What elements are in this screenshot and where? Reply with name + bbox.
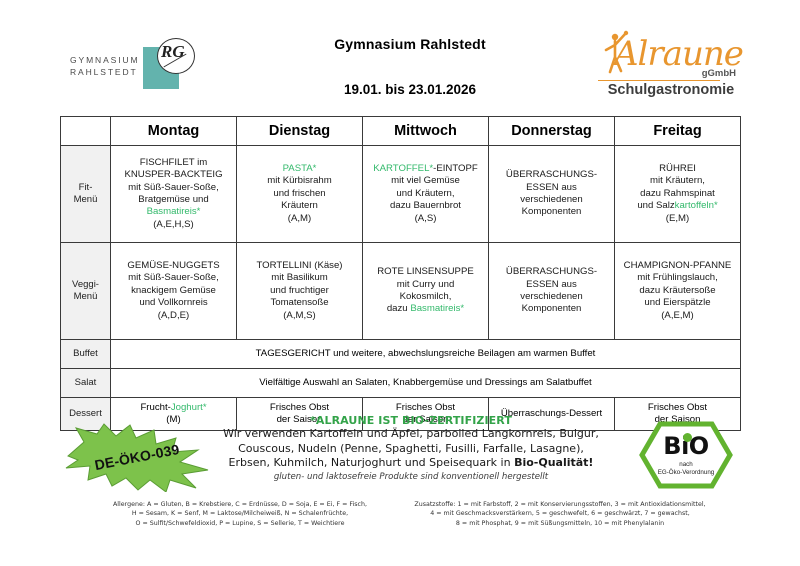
menu-line: Komponenten xyxy=(492,303,611,315)
bio-seal-dot xyxy=(683,433,692,442)
menu-line: ESSEN aus xyxy=(492,279,611,291)
bio-line-2: Couscous, Nudeln (Penne, Spaghetti, Fusi… xyxy=(205,442,617,457)
school-logo-wordmark: GYMNASIUM RAHLSTEDT xyxy=(70,54,140,78)
menu-line: (A,M,S) xyxy=(240,310,359,322)
menu-item-text: und frischen xyxy=(273,188,325,199)
caterer-logo: Alraune gGmbH Schulgastronomie xyxy=(596,28,746,104)
menu-line: mit viel Gemüse xyxy=(366,175,485,187)
menu-item-text: Komponenten xyxy=(522,303,582,314)
menu-line: (A,E,M) xyxy=(618,310,737,322)
table-row-buffet: Buffet TAGESGERICHT und weitere, abwechs… xyxy=(61,340,741,369)
menu-item-text: dazu Rahmspinat xyxy=(640,188,715,199)
menu-line: PASTA* xyxy=(240,163,359,175)
meal-fit-donnerstag: ÜBERRASCHUNGS-ESSEN ausverschiedenenKomp… xyxy=(489,146,615,243)
bio-item-text: Basmatireis* xyxy=(147,206,201,217)
bio-item-text: KARTOFFEL* xyxy=(373,163,433,174)
row-label-veggi-menue: Veggi- Menü xyxy=(61,243,111,340)
menu-item-text: dazu Bauernbrot xyxy=(390,200,461,211)
additives-legend: Zusatzstoffe: 1 = mit Farbstoff, 2 = mit… xyxy=(400,500,720,528)
de-oeko-badge: DE-ÖKO-039 xyxy=(62,422,212,492)
menu-line: mit Curry und xyxy=(366,279,485,291)
menu-line: Kräutern xyxy=(240,200,359,212)
menu-line: ESSEN aus xyxy=(492,182,611,194)
menu-line: mit Kürbisrahm xyxy=(240,175,359,187)
menu-line: (A,E,H,S) xyxy=(114,219,233,231)
menu-line: KNUSPER-BACKTEIG xyxy=(114,169,233,181)
menu-line: (A,D,E) xyxy=(114,310,233,322)
menu-line: knackigem Gemüse xyxy=(114,285,233,297)
meal-veggi-freitag: CHAMPIGNON-PFANNEmit Frühlingslauch,dazu… xyxy=(615,243,741,340)
menu-item-text: Tomatensoße xyxy=(270,297,328,308)
menu-item-text: Kräutern xyxy=(281,200,318,211)
menu-item-text: ROTE LINSENSUPPE xyxy=(377,266,474,277)
menu-item-text: (E,M) xyxy=(666,213,689,224)
additives-line-2: 4 = mit Geschmacksverstärkern, 5 = gesch… xyxy=(400,509,720,518)
menu-line: und Vollkornreis xyxy=(114,297,233,309)
menu-line: Bratgemüse und xyxy=(114,194,233,206)
menu-line: dazu Bauernbrot xyxy=(366,200,485,212)
menu-item-text: und Kräutern, xyxy=(396,188,454,199)
day-header-mittwoch: Mittwoch xyxy=(363,117,489,146)
date-range: 19.01. bis 23.01.2026 xyxy=(300,82,520,97)
menu-line: mit Süß-Sauer-Soße, xyxy=(114,182,233,194)
allergen-legend: Allergene: A = Gluten, B = Krebstiere, C… xyxy=(80,500,400,528)
page-title: Gymnasium Rahlstedt xyxy=(300,36,520,52)
menu-line: und Kräutern, xyxy=(366,188,485,200)
menu-item-text: mit Frühlingslauch, xyxy=(637,272,718,283)
day-header-dienstag: Dienstag xyxy=(237,117,363,146)
menu-item-text: ESSEN aus xyxy=(526,182,577,193)
menu-item-text: mit Süß-Sauer-Soße, xyxy=(128,182,219,193)
meal-fit-freitag: RÜHREImit Kräutern,dazu Rahmspinatund Sa… xyxy=(615,146,741,243)
menu-item-text: Komponenten xyxy=(522,206,582,217)
menu-line: TORTELLINI (Käse) xyxy=(240,260,359,272)
menu-line: dazu Basmatireis* xyxy=(366,303,485,315)
menu-line: RÜHREI xyxy=(618,163,737,175)
caterer-tagline: Schulgastronomie xyxy=(596,82,746,98)
meal-fit-mittwoch: KARTOFFEL*-EINTOPFmit viel Gemüseund Krä… xyxy=(363,146,489,243)
bio-note: gluten- und laktosefreie Produkte sind k… xyxy=(205,472,617,482)
page-footer: Allergene: A = Gluten, B = Krebstiere, C… xyxy=(0,500,800,566)
buffet-text: TAGESGERICHT und weitere, abwechslungsre… xyxy=(111,340,741,369)
bio-line-3: Erbsen, Kuhmilch, Naturjoghurt und Speis… xyxy=(205,456,617,471)
bio-line-3-bold: Bio-Qualität! xyxy=(514,456,593,469)
menu-line: (E,M) xyxy=(618,213,737,225)
menu-item-text: RÜHREI xyxy=(659,163,696,174)
menu-item-text: mit viel Gemüse xyxy=(391,175,460,186)
bio-item-text: PASTA* xyxy=(283,163,317,174)
menu-line: mit Basilikum xyxy=(240,272,359,284)
menu-line: GEMÜSE-NUGGETS xyxy=(114,260,233,272)
menu-line: und frischen xyxy=(240,188,359,200)
day-header-montag: Montag xyxy=(111,117,237,146)
menu-item-text: -EINTOPF xyxy=(433,163,478,174)
menu-item-text: mit Süß-Sauer-Soße, xyxy=(128,272,219,283)
bio-seal-subtitle: nach EG-Öko-Verordnung xyxy=(638,461,734,476)
menu-line: mit Frühlingslauch, xyxy=(618,272,737,284)
bio-text-block: *ALRAUNE IST BIO-ZERTIFIZIERT Wir verwen… xyxy=(205,414,617,482)
school-logo-line2: RAHLSTEDT xyxy=(70,66,140,78)
allergen-line-2: H = Sesam, K = Senf, M = Laktose/Milchei… xyxy=(80,509,400,518)
menu-line: (A,S) xyxy=(366,213,485,225)
menu-line: ÜBERRASCHUNGS- xyxy=(492,266,611,278)
menu-item-text: FISCHFILET im xyxy=(140,157,208,168)
menu-table: Montag Dienstag Mittwoch Donnerstag Frei… xyxy=(60,116,741,431)
menu-item-text: und Salz xyxy=(637,200,674,211)
menu-line: Komponenten xyxy=(492,206,611,218)
menu-line: Tomatensoße xyxy=(240,297,359,309)
bio-section: DE-ÖKO-039 *ALRAUNE IST BIO-ZERTIFIZIERT… xyxy=(0,412,800,498)
menu-line: FISCHFILET im xyxy=(114,157,233,169)
menu-line: Kokosmilch, xyxy=(366,291,485,303)
menu-line: CHAMPIGNON-PFANNE xyxy=(618,260,737,272)
additives-line-3: 8 = mit Phosphat, 9 = mit Süßungsmitteln… xyxy=(400,519,720,528)
menu-item-text: CHAMPIGNON-PFANNE xyxy=(624,260,732,271)
menu-item-text: dazu xyxy=(387,303,410,314)
meal-veggi-dienstag: TORTELLINI (Käse)mit Basilikumund frucht… xyxy=(237,243,363,340)
menu-line: KARTOFFEL*-EINTOPF xyxy=(366,163,485,175)
menu-line: dazu Rahmspinat xyxy=(618,188,737,200)
menu-item-text: mit Kräutern, xyxy=(650,175,705,186)
menu-item-text: ÜBERRASCHUNGS- xyxy=(506,169,597,180)
menu-item-text: verschiedenen xyxy=(520,291,582,302)
menu-item-text: (A,M) xyxy=(288,213,311,224)
menu-item-text: GEMÜSE-NUGGETS xyxy=(127,260,219,271)
day-header-freitag: Freitag xyxy=(615,117,741,146)
day-header-donnerstag: Donnerstag xyxy=(489,117,615,146)
bio-item-text: Basmatireis* xyxy=(410,303,464,314)
school-logo-monogram: RG xyxy=(161,42,185,62)
menu-item-text: ESSEN aus xyxy=(526,279,577,290)
menu-item-text: ÜBERRASCHUNGS- xyxy=(506,266,597,277)
menu-item-text: und Eierspätzle xyxy=(644,297,710,308)
table-row-veggi-menue: Veggi- Menü GEMÜSE-NUGGETSmit Süß-Sauer-… xyxy=(61,243,741,340)
menu-item-text: mit Curry und xyxy=(397,279,455,290)
meal-veggi-donnerstag: ÜBERRASCHUNGS-ESSEN ausverschiedenenKomp… xyxy=(489,243,615,340)
additives-line-1: Zusatzstoffe: 1 = mit Farbstoff, 2 = mit… xyxy=(400,500,720,509)
menu-item-text: (A,D,E) xyxy=(158,310,189,321)
bio-item-text: kartoffeln* xyxy=(675,200,718,211)
menu-item-text: und fruchtiger xyxy=(270,285,329,296)
menu-line: dazu Kräutersoße xyxy=(618,285,737,297)
caterer-legal-form: gGmbH xyxy=(702,68,736,79)
bio-seal: BiO nach EG-Öko-Verordnung xyxy=(638,420,734,490)
menu-item-text: Bratgemüse und xyxy=(138,194,208,205)
row-label-fit-menue: Fit- Menü xyxy=(61,146,111,243)
menu-item-text: Kokosmilch, xyxy=(400,291,452,302)
salat-text: Vielfältige Auswahl an Salaten, Knabberg… xyxy=(111,369,741,398)
menu-line: mit Süß-Sauer-Soße, xyxy=(114,272,233,284)
bio-line-3-pre: Erbsen, Kuhmilch, Naturjoghurt und Speis… xyxy=(229,456,515,469)
menu-item-text: (A,S) xyxy=(415,213,437,224)
menu-line: Basmatireis* xyxy=(114,206,233,218)
menu-line: (A,M) xyxy=(240,213,359,225)
menu-item-text: knackigem Gemüse xyxy=(131,285,216,296)
menu-item-text: mit Basilikum xyxy=(271,272,328,283)
school-logo-line1: GYMNASIUM xyxy=(70,54,140,66)
menu-item-text: (A,E,H,S) xyxy=(153,219,194,230)
menu-item-text: (A,E,M) xyxy=(661,310,694,321)
row-label-buffet: Buffet xyxy=(61,340,111,369)
menu-line: und Salzkartoffeln* xyxy=(618,200,737,212)
menu-line: und Eierspätzle xyxy=(618,297,737,309)
row-label-salat: Salat xyxy=(61,369,111,398)
meal-fit-montag: FISCHFILET imKNUSPER-BACKTEIGmit Süß-Sau… xyxy=(111,146,237,243)
caterer-logo-rule xyxy=(598,80,720,81)
menu-line: ROTE LINSENSUPPE xyxy=(366,266,485,278)
meal-veggi-mittwoch: ROTE LINSENSUPPEmit Curry undKokosmilch,… xyxy=(363,243,489,340)
meal-fit-dienstag: PASTA*mit Kürbisrahmund frischenKräutern… xyxy=(237,146,363,243)
menu-item-text: (A,M,S) xyxy=(283,310,316,321)
menu-item-text: verschiedenen xyxy=(520,194,582,205)
school-logo: GYMNASIUM RAHLSTEDT RG xyxy=(60,38,250,100)
table-header-row: Montag Dienstag Mittwoch Donnerstag Frei… xyxy=(61,117,741,146)
menu-line: und fruchtiger xyxy=(240,285,359,297)
bio-headline: *ALRAUNE IST BIO-ZERTIFIZIERT xyxy=(205,414,617,427)
menu-line: verschiedenen xyxy=(492,194,611,206)
menu-item-text: und Vollkornreis xyxy=(139,297,207,308)
bio-line-1: Wir verwenden Kartoffeln und Äpfel, parb… xyxy=(205,427,617,442)
allergen-line-1: Allergene: A = Gluten, B = Krebstiere, C… xyxy=(80,500,400,509)
table-row-fit-menue: Fit- Menü FISCHFILET imKNUSPER-BACKTEIGm… xyxy=(61,146,741,243)
table-corner-cell xyxy=(61,117,111,146)
menu-line: mit Kräutern, xyxy=(618,175,737,187)
menu-item-text: mit Kürbisrahm xyxy=(267,175,332,186)
meal-veggi-montag: GEMÜSE-NUGGETSmit Süß-Sauer-Soße,knackig… xyxy=(111,243,237,340)
menu-line: ÜBERRASCHUNGS- xyxy=(492,169,611,181)
menu-item-text: TORTELLINI (Käse) xyxy=(256,260,342,271)
title-block: Gymnasium Rahlstedt 19.01. bis 23.01.202… xyxy=(300,36,520,97)
table-row-salat: Salat Vielfältige Auswahl an Salaten, Kn… xyxy=(61,369,741,398)
menu-item-text: KNUSPER-BACKTEIG xyxy=(124,169,222,180)
allergen-line-3: O = Sulfit/Schwefeldioxid, P = Lupine, S… xyxy=(80,519,400,528)
page-header: GYMNASIUM RAHLSTEDT RG Gymnasium Rahlste… xyxy=(0,0,800,116)
menu-item-text: dazu Kräutersoße xyxy=(639,285,715,296)
menu-plan-page: GYMNASIUM RAHLSTEDT RG Gymnasium Rahlste… xyxy=(0,0,800,566)
menu-line: verschiedenen xyxy=(492,291,611,303)
